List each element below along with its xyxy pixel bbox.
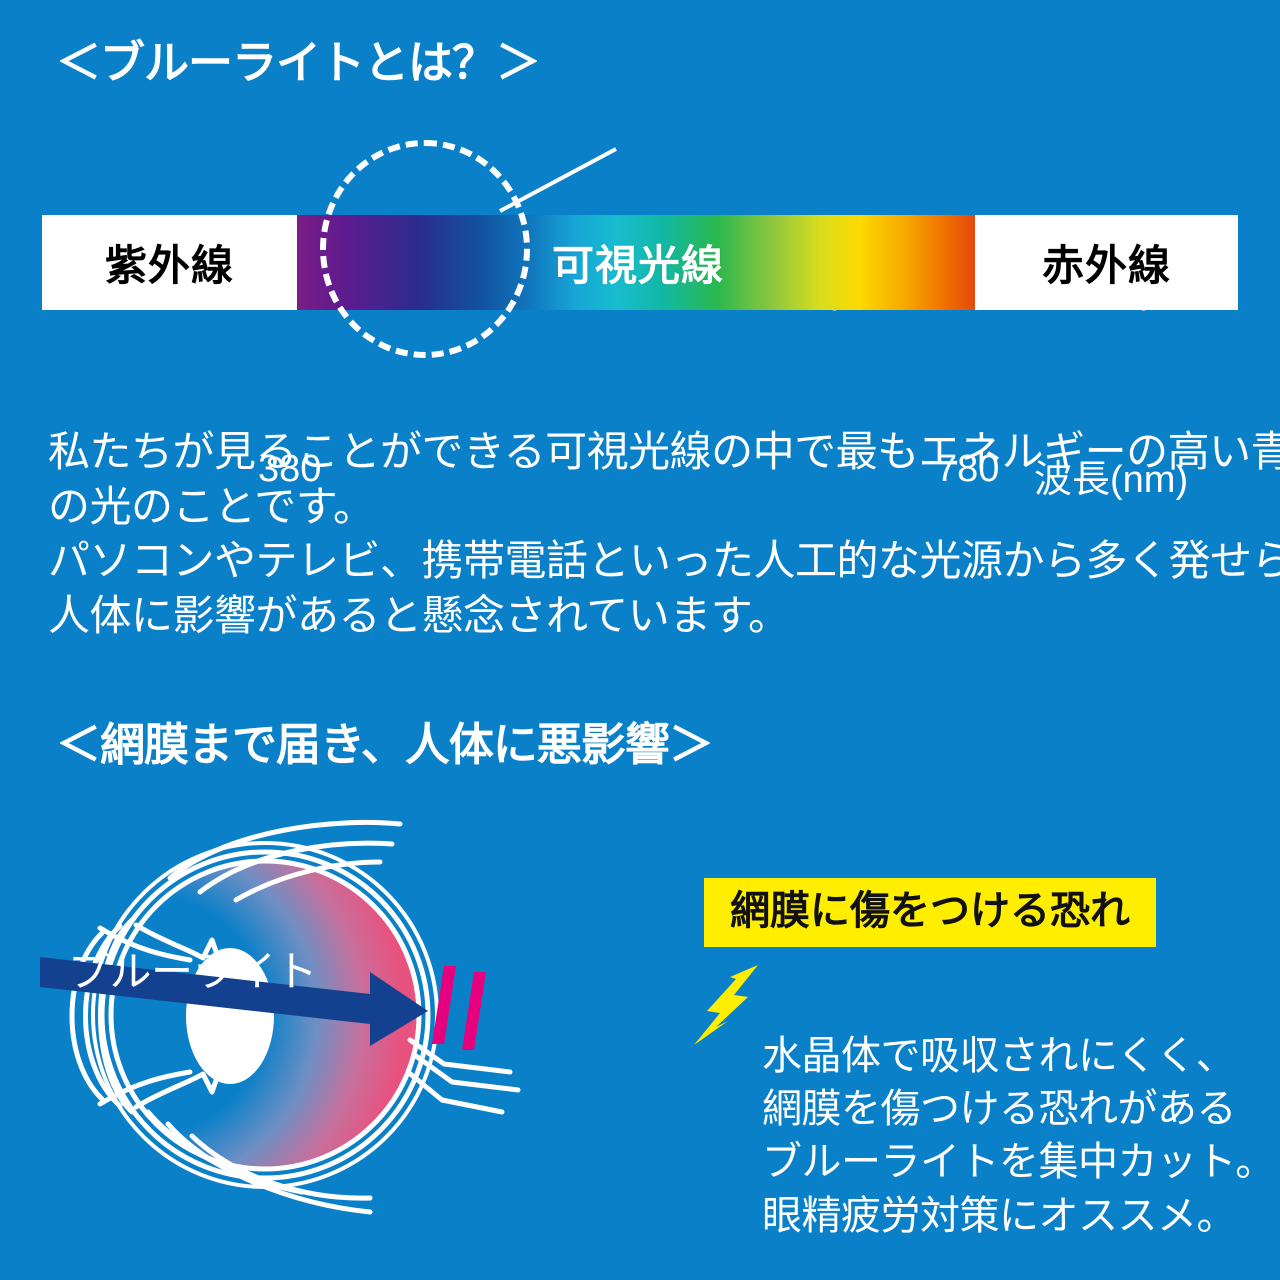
blue-light-arrow-label: ブルーライト [68,938,317,999]
band-label-infrared: 赤外線 [975,215,1238,310]
note-line: ブルーライトを集中カット。 [762,1136,1262,1189]
description-line: の光のことです。 [48,480,1258,535]
blue-light-cut-note: 水晶体で吸収されにくく、 網膜を傷つける恐れがある ブルーライトを集中カット。 … [762,1030,1262,1243]
description-line: 私たちが見ることができる可視光線の中で最もエネルギーの高い青色 [48,425,1258,480]
note-line: 網膜を傷つける恐れがある [762,1083,1262,1136]
description-line: 人体に影響があると懸念されています。 [48,589,1258,644]
section-heading-blue-light: ＜ブルーライトとは？＞ [56,40,540,85]
spectrum-figure: ブルーライト(波長380〜500nm) 紫外線 可視光線 赤外線 380 780… [0,120,1280,390]
blue-light-description: 私たちが見ることができる可視光線の中で最もエネルギーの高い青色 の光のことです。… [48,425,1258,643]
eye-cross-section-diagram [40,800,780,1230]
retina-damage-callout-text: 網膜に傷をつける恐れ [730,889,1130,934]
retina-damage-callout: 網膜に傷をつける恐れ [704,878,1156,947]
note-line: 水晶体で吸収されにくく、 [762,1030,1262,1083]
section-heading-retina: ＜網膜まで届き、人体に悪影響＞ [56,722,713,767]
retina-damage-marks [432,966,486,1050]
spectrum-bar: 紫外線 可視光線 赤外線 [42,215,1238,310]
band-label-visible-light: 可視光線 [552,215,724,310]
eye-diagram-svg [40,800,780,1230]
note-line: 眼精疲労対策にオススメ。 [762,1190,1262,1243]
description-line: パソコンやテレビ、携帯電話といった人工的な光源から多く発せられ、 [48,534,1258,589]
blue-light-highlight-ellipse [320,140,530,358]
infographic-canvas: ＜ブルーライトとは？＞ ブルーライト(波長380〜500nm) 紫外線 可視光線… [0,0,1280,1280]
band-label-ultraviolet: 紫外線 [42,215,297,310]
